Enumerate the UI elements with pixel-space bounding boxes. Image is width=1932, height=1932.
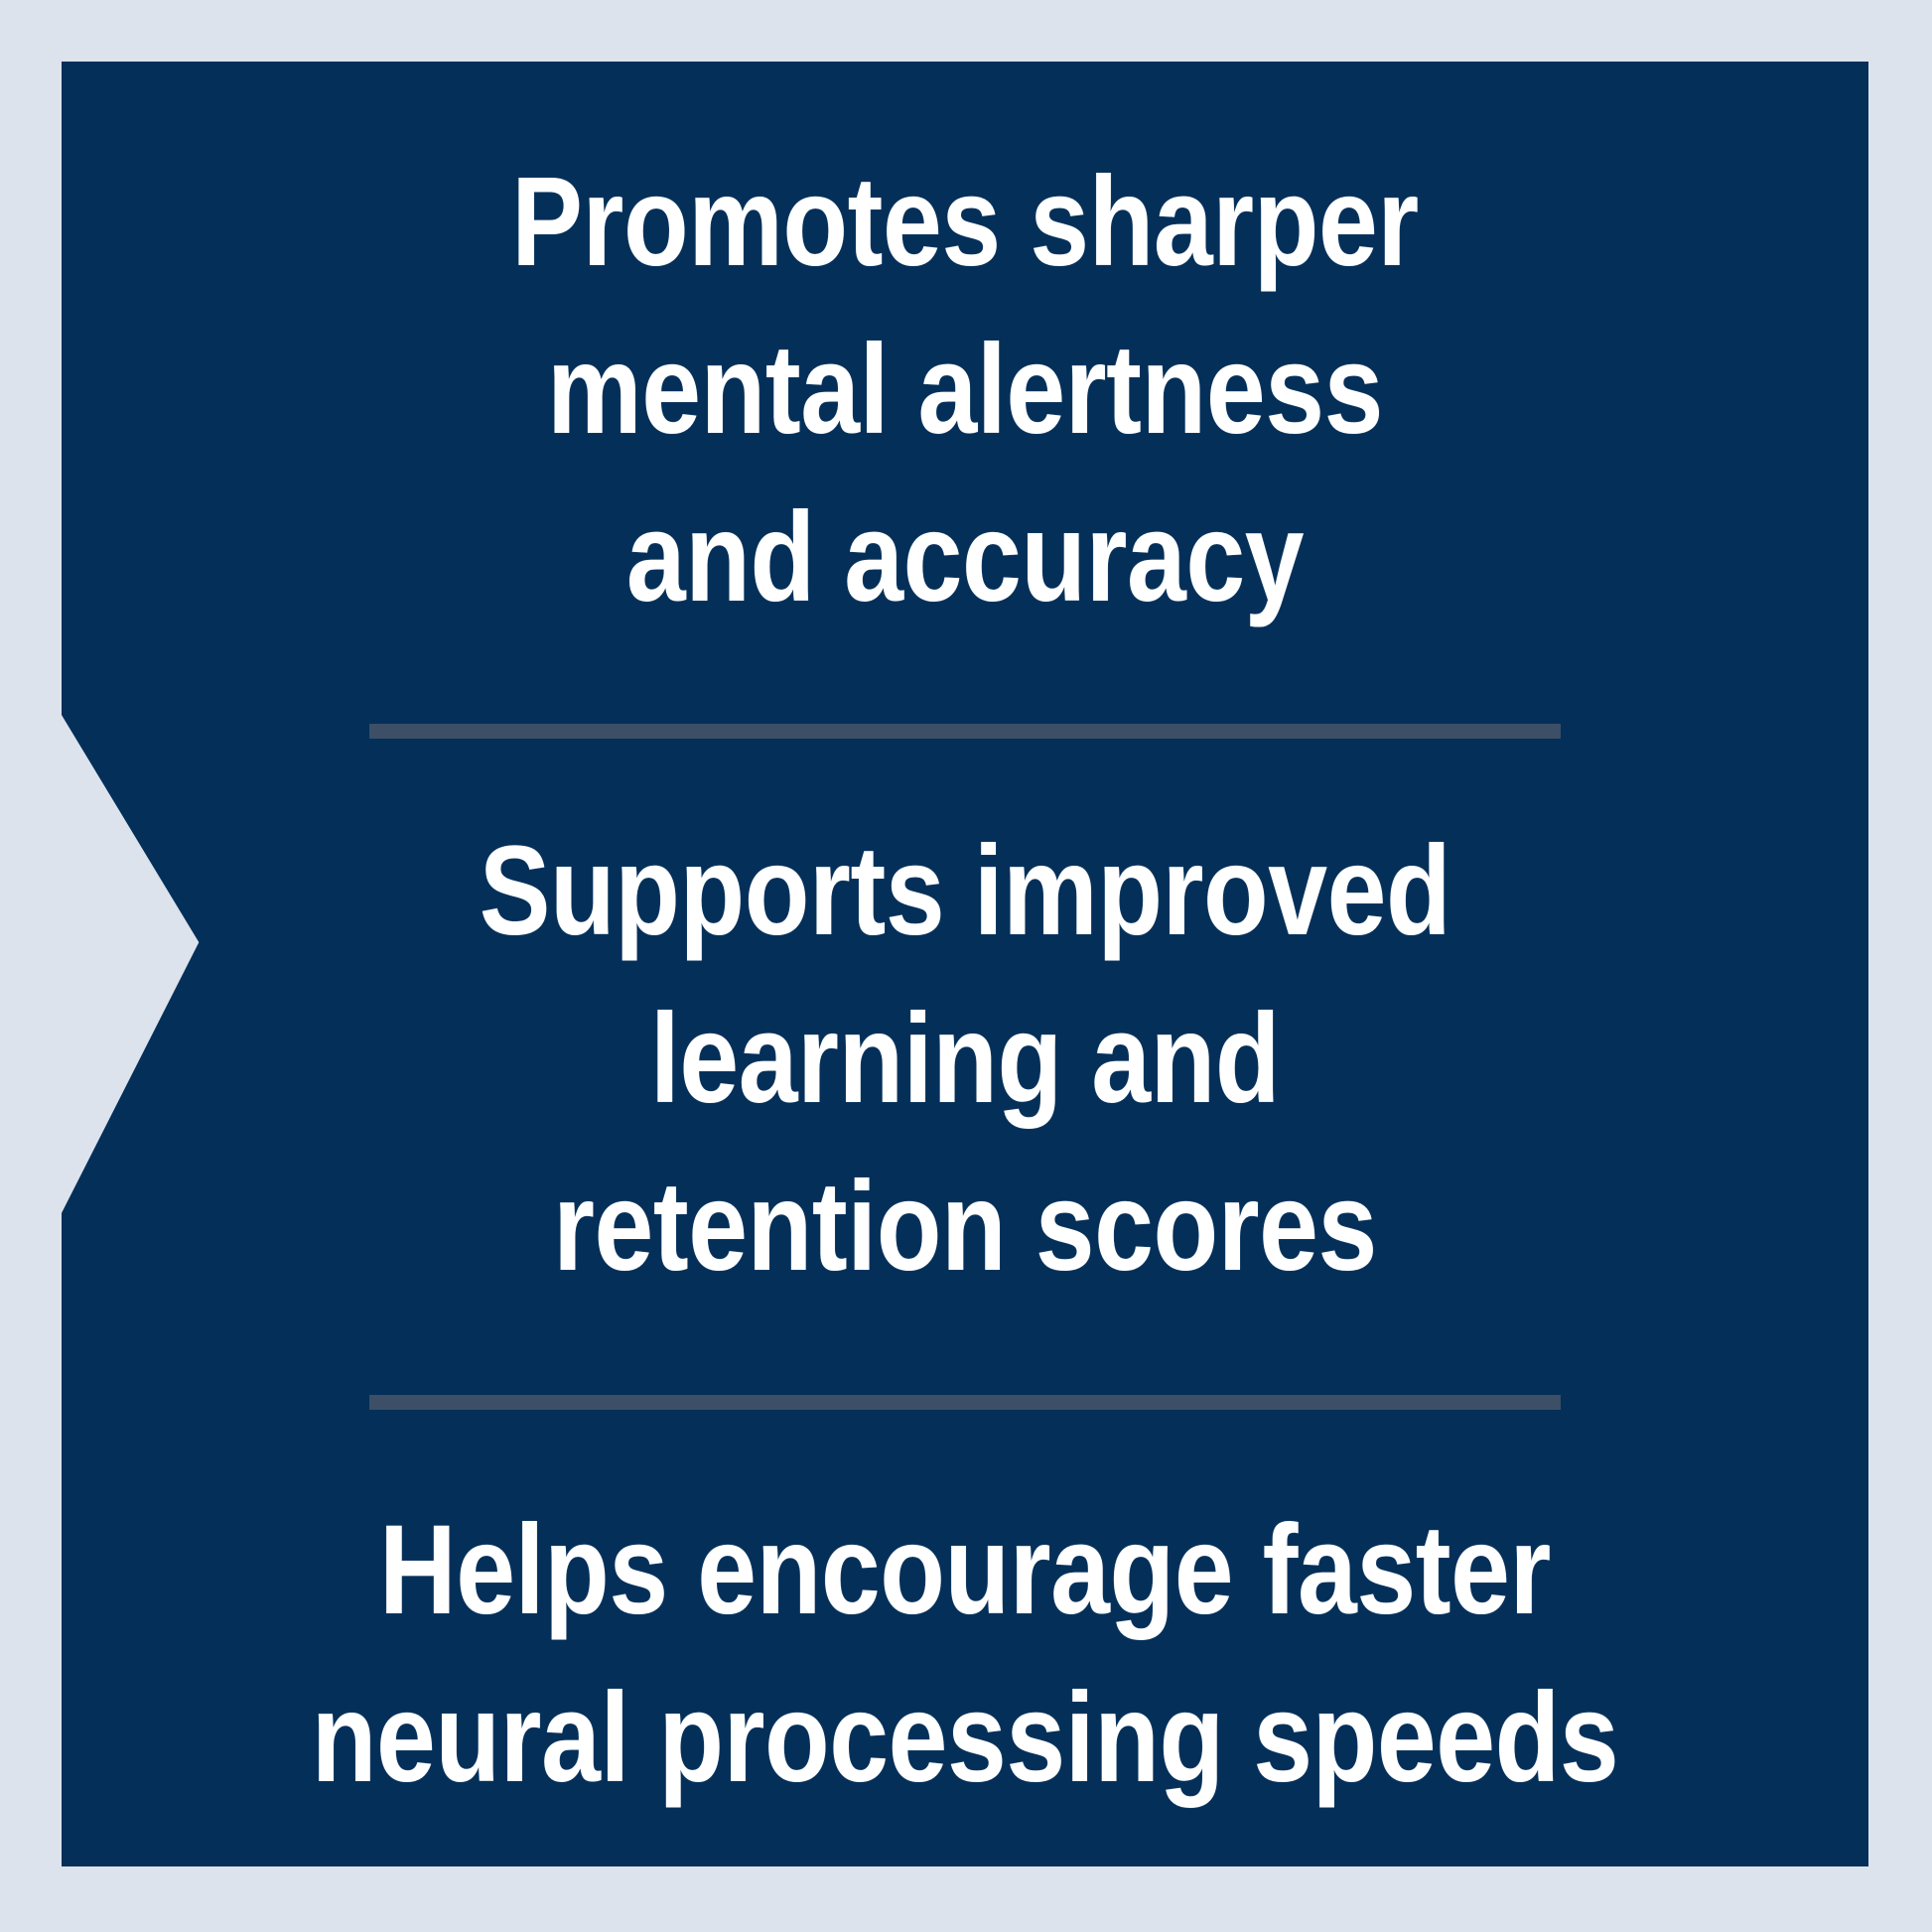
benefit-item-mental-alertness: Promotes sharper mental alertness and ac… [207, 139, 1725, 642]
benefit-item-learning-retention: Supports improved learning and retention… [207, 808, 1725, 1311]
infographic-canvas: Promotes sharper mental alertness and ac… [0, 0, 1932, 1932]
benefit-divider-1 [369, 724, 1561, 739]
benefit-divider-2 [369, 1395, 1561, 1410]
benefit-item-neural-processing: Helps encourage faster neural processing… [207, 1487, 1725, 1823]
benefits-list: Promotes sharper mental alertness and ac… [62, 62, 1868, 1866]
